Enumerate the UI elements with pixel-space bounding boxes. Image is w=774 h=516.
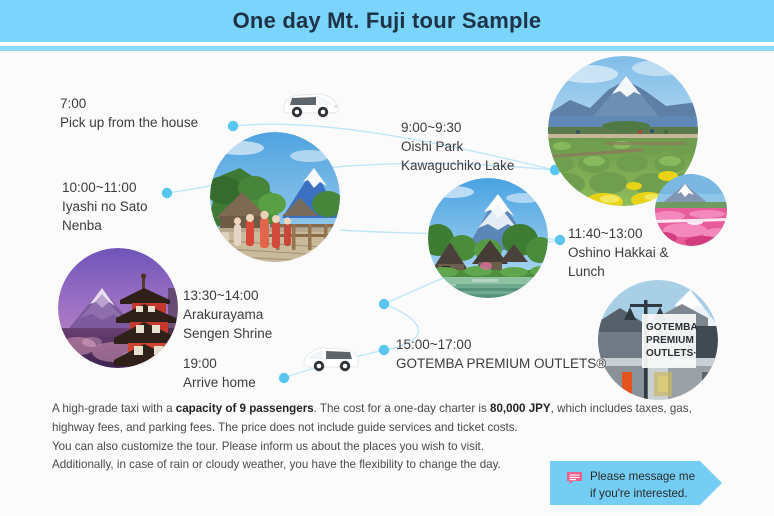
stop-label-arakura: 13:30~14:00 Arakurayama Sengen Shrine [183, 286, 272, 343]
van-outbound-icon [278, 86, 342, 127]
van-return-icon [300, 340, 364, 381]
stop-place-oshino-1: Oshino Hakkai & [568, 243, 669, 262]
photo-arakurayama [58, 248, 178, 368]
stop-place-home-1: Arrive home [183, 373, 256, 392]
stop-label-oshino: 11:40~13:00 Oshino Hakkai & Lunch [568, 224, 669, 281]
timeline-dot-home [279, 373, 289, 383]
stop-place-oishi-2: Kawaguchiko Lake [401, 156, 514, 175]
note-1d: 80,000 JPY [490, 402, 551, 415]
stop-place-oishi-1: Oishi Park [401, 137, 514, 156]
stop-time-gotemba: 15:00~17:00 [396, 335, 606, 354]
note-line-2: highway fees, and parking fees. The pric… [52, 419, 732, 438]
note-line-1: A high-grade taxi with a capacity of 9 p… [52, 400, 732, 419]
stop-label-oishi: 9:00~9:30 Oishi Park Kawaguchiko Lake [401, 118, 514, 175]
itinerary-stage: GOTEMBA PREMIUM OUTLETS· [0, 54, 774, 394]
stop-label-gotemba: 15:00~17:00 GOTEMBA PREMIUM OUTLETS® [396, 335, 606, 373]
stop-time-arakura: 13:30~14:00 [183, 286, 272, 305]
note-line-3: You can also customize the tour. Please … [52, 438, 732, 457]
note-1a: A high-grade taxi with a [52, 402, 176, 415]
gotemba-sign-line-1: GOTEMBA [646, 322, 698, 333]
note-1b: capacity of 9 passengers [176, 402, 314, 415]
gotemba-sign-line-2: PREMIUM [646, 335, 694, 346]
photo-gotemba-outlets: GOTEMBA PREMIUM OUTLETS· [598, 280, 718, 400]
stop-time-oshino: 11:40~13:00 [568, 224, 669, 243]
stop-place-arakura-2: Sengen Shrine [183, 324, 272, 343]
stop-time-home: 19:00 [183, 354, 256, 373]
gotemba-sign-line-3: OUTLETS· [646, 348, 697, 359]
stop-label-pickup: 7:00 Pick up from the house [60, 94, 198, 132]
timeline-dot-oshino [555, 235, 565, 245]
stop-label-iyashi: 10:00~11:00 Iyashi no Sato Nenba [62, 178, 148, 235]
timeline-dot-iyashi [162, 188, 172, 198]
photo-iyashi-no-sato [210, 132, 340, 262]
timeline-dot-gotemba [379, 345, 389, 355]
page-title: One day Mt. Fuji tour Sample [233, 8, 542, 34]
stop-time-oishi: 9:00~9:30 [401, 118, 514, 137]
message-bubble-icon [566, 471, 583, 486]
stop-place-oshino-2: Lunch [568, 262, 669, 281]
cta-line-2: if you're interested. [590, 485, 695, 502]
stop-place-pickup-1: Pick up from the house [60, 113, 198, 132]
timeline-dot-pickup [228, 121, 238, 131]
stop-place-arakura-1: Arakurayama [183, 305, 272, 324]
note-1c: . The cost for a one-day charter is [314, 402, 490, 415]
note-1e: , which includes taxes, gas, [551, 402, 692, 415]
stop-place-iyashi-1: Iyashi no Sato [62, 197, 148, 216]
photo-oshino-hakkai [428, 178, 548, 298]
message-cta-button[interactable]: Please message me if you're interested. [550, 461, 722, 505]
stop-label-home: 19:00 Arrive home [183, 354, 256, 392]
stop-place-gotemba-1: GOTEMBA PREMIUM OUTLETS® [396, 354, 606, 373]
stop-place-iyashi-2: Nenba [62, 216, 148, 235]
stop-time-pickup: 7:00 [60, 94, 198, 113]
stop-time-iyashi: 10:00~11:00 [62, 178, 148, 197]
timeline-dot-arakura [379, 299, 389, 309]
header-bar: One day Mt. Fuji tour Sample [0, 0, 774, 42]
cta-line-1: Please message me [590, 468, 695, 485]
tour-flyer: One day Mt. Fuji tour Sample [0, 0, 774, 516]
